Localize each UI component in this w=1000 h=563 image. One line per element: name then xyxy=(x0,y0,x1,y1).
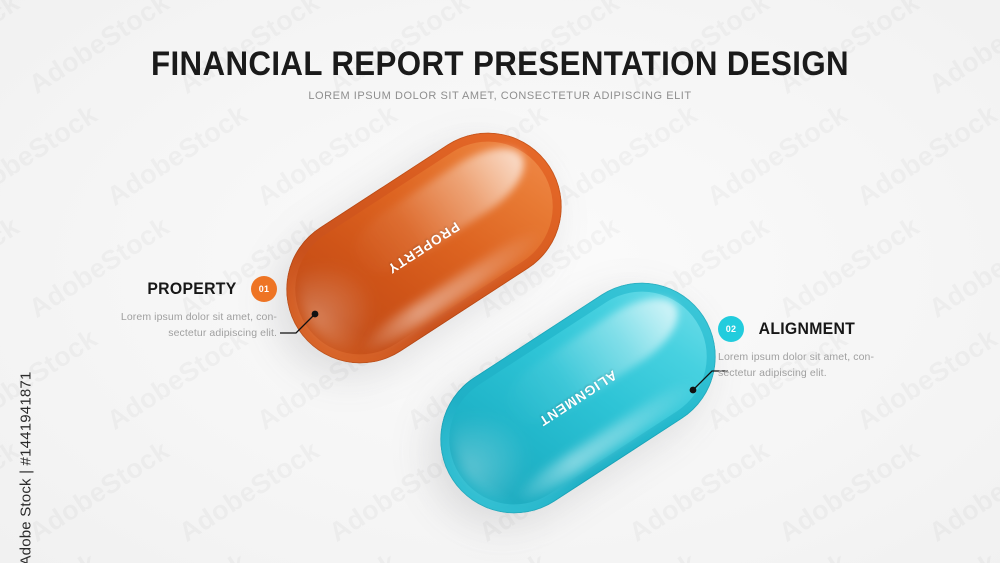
connector-line-left xyxy=(278,306,322,340)
info-title-alignment: ALIGNMENT xyxy=(759,319,855,339)
capsule-label-text: PROPERTY xyxy=(385,219,463,277)
badge-01[interactable]: 01 xyxy=(251,276,277,302)
badge-02[interactable]: 02 xyxy=(718,316,744,342)
badge-number: 02 xyxy=(726,324,737,334)
stock-credit: Adobe Stock | #1441941871 xyxy=(6,0,46,563)
stock-credit-text: Adobe Stock | #1441941871 xyxy=(18,371,35,563)
info-block-alignment: 02 ALIGNMENT Lorem ipsum dolor sit amet,… xyxy=(718,316,933,382)
header: FINANCIAL REPORT PRESENTATION DESIGN LOR… xyxy=(0,46,1000,102)
page-title: FINANCIAL REPORT PRESENTATION DESIGN xyxy=(40,46,960,82)
info-block-property: PROPERTY 01 Lorem ipsum dolor sit amet, … xyxy=(62,276,277,342)
badge-number: 01 xyxy=(259,284,270,294)
info-title-property: PROPERTY xyxy=(147,279,236,299)
info-text-alignment: Lorem ipsum dolor sit amet, con-sectetur… xyxy=(718,349,933,382)
info-head: PROPERTY 01 xyxy=(62,276,277,302)
page-subtitle: LOREM IPSUM DOLOR SIT AMET, CONSECTETUR … xyxy=(0,90,1000,102)
info-text-property: Lorem ipsum dolor sit amet, con-sectetur… xyxy=(62,309,277,342)
info-head: 02 ALIGNMENT xyxy=(718,316,933,342)
capsule-label-text: ALIGNMENT xyxy=(536,367,620,429)
infographic-stage: AdobeStockAdobeStockAdobeStockAdobeStock… xyxy=(0,0,1000,563)
